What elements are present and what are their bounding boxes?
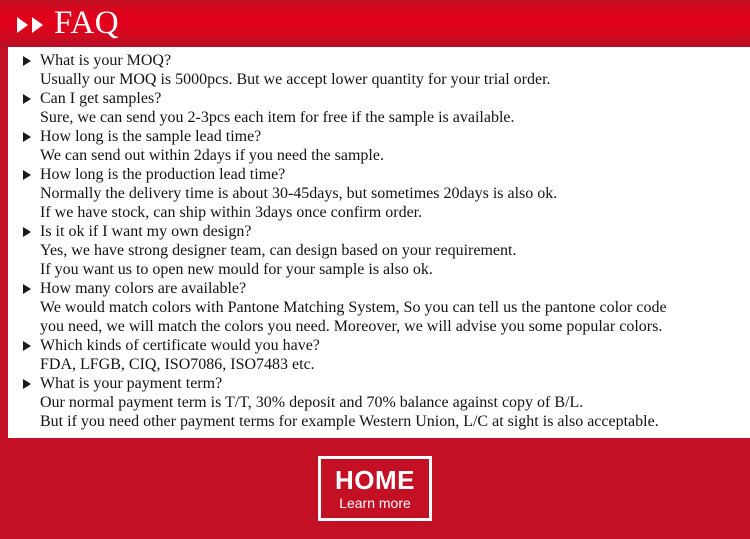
faq-answer-line: But if you need other payment terms for … <box>8 412 750 431</box>
faq-answer-line: you need, we will match the colors you n… <box>8 317 750 336</box>
faq-question-row[interactable]: Which kinds of certificate would you hav… <box>8 336 750 355</box>
faq-answer-line: Our normal payment term is T/T, 30% depo… <box>8 393 750 412</box>
home-button[interactable]: HOME Learn more <box>318 456 432 521</box>
faq-item: Which kinds of certificate would you hav… <box>8 336 750 374</box>
faq-question-row[interactable]: How long is the sample lead time? <box>8 127 750 146</box>
bullet-triangle-icon <box>23 284 31 294</box>
faq-answer-line: If you want us to open new mould for you… <box>8 260 750 279</box>
triangle-icon-2 <box>32 17 43 33</box>
faq-question: How long is the sample lead time? <box>40 127 261 146</box>
bullet-triangle-icon <box>23 170 31 180</box>
faq-question-row[interactable]: Can I get samples? <box>8 89 750 108</box>
double-right-triangle-icon <box>17 17 43 33</box>
faq-question-row[interactable]: Is it ok if I want my own design? <box>8 222 750 241</box>
faq-item: What is your MOQ? Usually our MOQ is 500… <box>8 51 750 89</box>
bullet-triangle-icon <box>23 227 31 237</box>
faq-question: Which kinds of certificate would you hav… <box>40 336 320 355</box>
faq-question-row[interactable]: What is your payment term? <box>8 374 750 393</box>
faq-item: How long is the sample lead time? We can… <box>8 127 750 165</box>
faq-question: Can I get samples? <box>40 89 161 108</box>
triangle-icon-1 <box>17 17 28 33</box>
faq-answer-line: Sure, we can send you 2-3pcs each item f… <box>8 108 750 127</box>
faq-content-panel: What is your MOQ? Usually our MOQ is 500… <box>8 47 750 438</box>
faq-item: How long is the production lead time? No… <box>8 165 750 222</box>
bullet-triangle-icon <box>23 56 31 66</box>
faq-answer-line: We can send out within 2days if you need… <box>8 146 750 165</box>
faq-page: FAQ What is your MOQ? Usually our MOQ is… <box>0 0 750 539</box>
faq-item: Is it ok if I want my own design? Yes, w… <box>8 222 750 279</box>
faq-question: What is your payment term? <box>40 374 222 393</box>
faq-question-row[interactable]: How long is the production lead time? <box>8 165 750 184</box>
bullet-triangle-icon <box>23 379 31 389</box>
home-button-sublabel: Learn more <box>339 495 411 512</box>
bullet-triangle-icon <box>23 341 31 351</box>
faq-answer-line: If we have stock, can ship within 3days … <box>8 203 750 222</box>
page-title: FAQ <box>54 7 119 40</box>
faq-answer-line: Yes, we have strong designer team, can d… <box>8 241 750 260</box>
bullet-triangle-icon <box>23 94 31 104</box>
faq-question-row[interactable]: How many colors are available? <box>8 279 750 298</box>
bullet-triangle-icon <box>23 132 31 142</box>
faq-item: Can I get samples? Sure, we can send you… <box>8 89 750 127</box>
home-button-label: HOME <box>335 466 415 494</box>
faq-answer-line: FDA, LFGB, CIQ, ISO7086, ISO7483 etc. <box>8 355 750 374</box>
faq-answer-line: Usually our MOQ is 5000pcs. But we accep… <box>8 70 750 89</box>
faq-header-band: FAQ <box>0 0 750 47</box>
faq-list: What is your MOQ? Usually our MOQ is 500… <box>8 51 750 431</box>
faq-question: How many colors are available? <box>40 279 246 298</box>
faq-item: How many colors are available? We would … <box>8 279 750 336</box>
faq-question: What is your MOQ? <box>40 51 171 70</box>
faq-question: Is it ok if I want my own design? <box>40 222 252 241</box>
faq-item: What is your payment term? Our normal pa… <box>8 374 750 431</box>
faq-question: How long is the production lead time? <box>40 165 285 184</box>
faq-question-row[interactable]: What is your MOQ? <box>8 51 750 70</box>
faq-answer-line: We would match colors with Pantone Match… <box>8 298 750 317</box>
faq-answer-line: Normally the delivery time is about 30-4… <box>8 184 750 203</box>
